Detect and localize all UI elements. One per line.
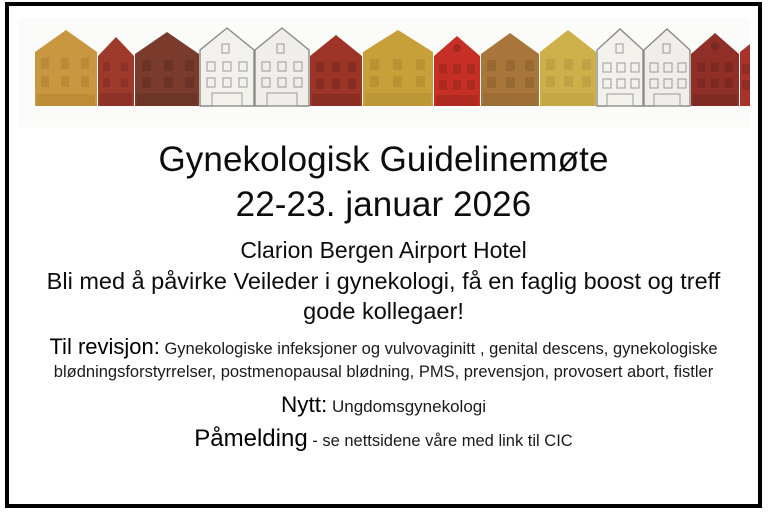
nytt-label: Nytt: [281, 392, 327, 417]
nytt-value: Ungdomsgynekologi [332, 397, 486, 416]
poster-content: Gynekologisk Guidelinemøte 22-23. januar… [9, 6, 758, 504]
bryggen-houses-illustration [19, 18, 750, 127]
venue-name: Clarion Bergen Airport Hotel [9, 236, 758, 265]
nytt-line: Nytt: Ungdomsgynekologi [9, 393, 758, 419]
poster-text-block: Gynekologisk Guidelinemøte 22-23. januar… [9, 132, 758, 454]
page-title-line-1: Gynekologisk Guidelinemøte [9, 138, 758, 182]
pamelding-label: Påmelding [194, 425, 307, 452]
tagline: Bli med å påvirke Veileder i gynekologi,… [9, 266, 758, 326]
page-title-line-2: 22-23. januar 2026 [9, 183, 758, 227]
pamelding-line: Påmelding - se nettsidene våre med link … [9, 426, 758, 454]
pamelding-value: - se nettsidene våre med link til CIC [312, 432, 572, 450]
revision-topics: Til revisjon: Gynekologiske infeksjoner … [9, 335, 758, 384]
revision-label: Til revisjon: [49, 334, 159, 359]
bryggen-houses-banner [19, 18, 750, 127]
poster-frame: Gynekologisk Guidelinemøte 22-23. januar… [5, 2, 762, 508]
